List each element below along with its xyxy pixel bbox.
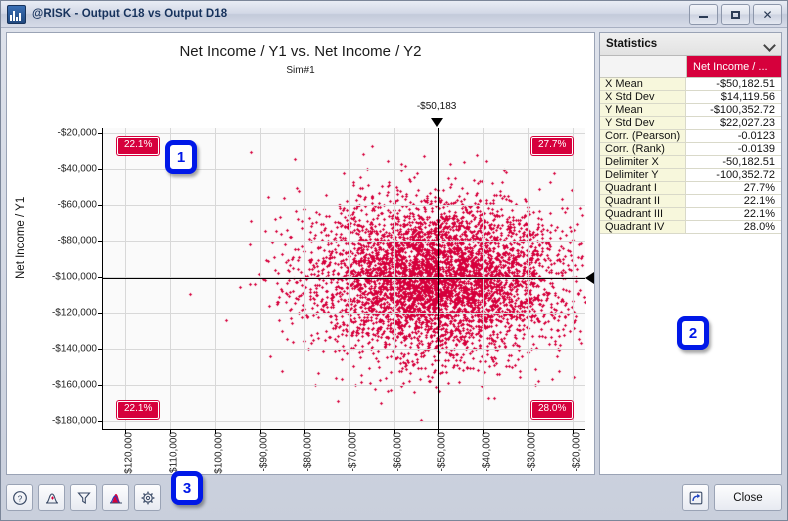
gridline-horizontal [103, 205, 585, 206]
statistics-row[interactable]: Corr. (Rank)-0.0139 [600, 143, 781, 156]
statistics-row-name: Delimiter X [600, 156, 686, 168]
y-axis-tick-label: -$180,000 [52, 416, 97, 427]
quadrant-badge-top-left: 22.1% [117, 137, 159, 155]
x-axis-tick [260, 429, 261, 434]
statistics-row-value: -$50,182.51 [686, 78, 781, 90]
x-axis-tick [483, 429, 484, 434]
y-axis-tick [98, 421, 103, 422]
risk-scatter-window: @RISK - Output C18 vs Output D18 ✕ Net I… [0, 0, 788, 521]
statistics-row-value: 22.1% [686, 195, 781, 207]
callout-badge-1: 1 [165, 140, 197, 174]
x-axis-tick [125, 429, 126, 434]
x-axis-tick-label: -$70,000 [347, 432, 358, 471]
delimiter-y-handle[interactable] [585, 272, 594, 284]
gridline-horizontal [103, 385, 585, 386]
help-button[interactable]: ? [6, 484, 33, 511]
statistics-row-value: $22,027.23 [686, 117, 781, 129]
statistics-row-value: -100,352.72 [686, 169, 781, 181]
y-axis-tick [98, 349, 103, 350]
statistics-row-name: X Mean [600, 78, 686, 90]
delimiter-y-line[interactable] [103, 278, 585, 279]
x-axis-tick-label: -$80,000 [303, 432, 314, 471]
window-title: @RISK - Output C18 vs Output D18 [32, 8, 227, 20]
statistics-value-col-header: Net Income / ... [687, 56, 781, 77]
statistics-row-value: -0.0123 [686, 130, 781, 142]
x-axis-tick-label: -$30,000 [526, 432, 537, 471]
statistics-row-value: -50,182.51 [686, 156, 781, 168]
y-axis-tick-labels: -$20,000-$40,000-$60,000-$80,000-$100,00… [7, 128, 97, 430]
export-button[interactable] [682, 484, 709, 511]
statistics-row-name: Quadrant III [600, 208, 686, 220]
statistics-name-col-header [600, 56, 687, 77]
distribution-grid-icon [44, 490, 60, 506]
statistics-title: Statistics [606, 38, 657, 50]
statistics-row[interactable]: X Mean-$50,182.51 [600, 78, 781, 91]
x-axis-tick [394, 429, 395, 434]
statistics-row[interactable]: Delimiter X-50,182.51 [600, 156, 781, 169]
statistics-header[interactable]: Statistics [600, 33, 781, 56]
statistics-row[interactable]: Delimiter Y-100,352.72 [600, 169, 781, 182]
minimize-icon [699, 16, 708, 18]
x-axis-tick [304, 429, 305, 434]
statistics-row[interactable]: Quadrant I27.7% [600, 182, 781, 195]
filter-button[interactable] [70, 484, 97, 511]
y-axis-tick-label: -$120,000 [52, 308, 97, 319]
gridline-horizontal [103, 313, 585, 314]
y-axis-tick-label: -$80,000 [58, 236, 97, 247]
statistics-row-name: Quadrant IV [600, 221, 686, 233]
delimiter-x-label: -$50,183 [417, 101, 456, 112]
x-axis-tick-label: -$100,000 [213, 432, 224, 475]
y-axis-tick [98, 169, 103, 170]
chart-subtitle: Sim#1 [7, 65, 594, 76]
statistics-row-name: Delimiter Y [600, 169, 686, 181]
statistics-row[interactable]: Y Std Dev$22,027.23 [600, 117, 781, 130]
main-content: Net Income / Y1 vs. Net Income / Y2 Sim#… [6, 32, 782, 475]
statistics-row[interactable]: Quadrant III22.1% [600, 208, 781, 221]
gridline-horizontal [103, 241, 585, 242]
overlay-distribution-button[interactable] [102, 484, 129, 511]
bar-chart-icon [7, 5, 26, 24]
x-axis-tick-label: -$60,000 [392, 432, 403, 471]
gridline-horizontal [103, 421, 585, 422]
gear-icon [140, 490, 156, 506]
statistics-row-value: 27.7% [686, 182, 781, 194]
chart-title: Net Income / Y1 vs. Net Income / Y2 [7, 43, 594, 60]
statistics-column-header: Net Income / ... [600, 56, 781, 78]
statistics-row-name: Quadrant I [600, 182, 686, 194]
statistics-row-name: X Std Dev [600, 91, 686, 103]
x-axis-tick-label: -$120,000 [124, 432, 135, 475]
quadrant-badge-bottom-left: 22.1% [117, 401, 159, 419]
close-button[interactable]: Close [714, 484, 782, 511]
statistics-row[interactable]: X Std Dev$14,119.56 [600, 91, 781, 104]
statistics-rows: X Mean-$50,182.51X Std Dev$14,119.56Y Me… [600, 78, 781, 234]
maximize-button[interactable] [721, 4, 750, 25]
gridline-horizontal [103, 133, 585, 134]
statistics-panel: Statistics Net Income / ... X Mean-$50,1… [599, 32, 782, 475]
scatter-chart-panel[interactable]: Net Income / Y1 vs. Net Income / Y2 Sim#… [6, 32, 595, 475]
statistics-empty-area [600, 234, 781, 474]
x-axis-tick [215, 429, 216, 434]
close-icon: ✕ [762, 9, 772, 21]
x-axis-tick [438, 429, 439, 434]
title-bar: @RISK - Output C18 vs Output D18 ✕ [1, 1, 787, 28]
svg-text:?: ? [17, 493, 22, 503]
y-axis-tick-label: -$140,000 [52, 344, 97, 355]
x-axis-tick-label: -$90,000 [258, 432, 269, 471]
funnel-icon [76, 490, 92, 506]
x-axis-tick-label: -$20,000 [571, 432, 582, 471]
red-distribution-icon [108, 490, 124, 506]
delimiter-x-handle[interactable] [431, 118, 443, 127]
statistics-row-name: Y Std Dev [600, 117, 686, 129]
y-axis-tick-label: -$60,000 [58, 200, 97, 211]
statistics-row-value: 22.1% [686, 208, 781, 220]
statistics-row-value: -0.0139 [686, 143, 781, 155]
window-controls: ✕ [689, 4, 782, 25]
maximize-icon [731, 11, 740, 19]
callout-badge-2: 2 [677, 316, 709, 350]
x-axis-tick [573, 429, 574, 434]
statistics-row-name: Y Mean [600, 104, 686, 116]
x-axis-tick [528, 429, 529, 434]
minimize-button[interactable] [689, 4, 718, 25]
statistics-row[interactable]: Corr. (Pearson)-0.0123 [600, 130, 781, 143]
statistics-row-name: Corr. (Pearson) [600, 130, 686, 142]
statistics-row[interactable]: Y Mean-$100,352.72 [600, 104, 781, 117]
close-window-button[interactable]: ✕ [753, 4, 782, 25]
x-axis-tick-labels: -$120,000-$110,000-$100,000-$90,000-$80,… [102, 432, 585, 475]
y-axis-tick [98, 133, 103, 134]
x-axis-tick [170, 429, 171, 434]
statistics-row-name: Corr. (Rank) [600, 143, 686, 155]
settings-button[interactable] [134, 484, 161, 511]
y-axis-tick-label: -$100,000 [52, 272, 97, 283]
y-axis-tick [98, 241, 103, 242]
quadrant-badge-bottom-right: 28.0% [531, 401, 573, 419]
distribution-grid-button[interactable] [38, 484, 65, 511]
question-mark-icon: ? [12, 490, 28, 506]
x-axis-tick [349, 429, 350, 434]
export-arrow-icon [688, 490, 704, 506]
y-axis-tick [98, 313, 103, 314]
x-axis-tick-label: -$50,000 [437, 432, 448, 471]
x-axis-tick-label: -$40,000 [482, 432, 493, 471]
x-axis-tick-label: -$110,000 [169, 432, 180, 475]
quadrant-badge-top-right: 27.7% [531, 137, 573, 155]
statistics-row[interactable]: Quadrant II22.1% [600, 195, 781, 208]
statistics-row-value: -$100,352.72 [686, 104, 781, 116]
statistics-row-name: Quadrant II [600, 195, 686, 207]
y-axis-tick-label: -$20,000 [58, 128, 97, 139]
y-axis-tick [98, 205, 103, 206]
statistics-row[interactable]: Quadrant IV28.0% [600, 221, 781, 234]
y-axis-tick-label: -$40,000 [58, 164, 97, 175]
statistics-row-value: $14,119.56 [686, 91, 781, 103]
bottom-toolbar: ? [6, 479, 782, 516]
chevron-down-icon[interactable] [764, 39, 775, 50]
statistics-row-value: 28.0% [686, 221, 781, 233]
callout-badge-3: 3 [171, 471, 203, 505]
y-axis-tick-label: -$160,000 [52, 380, 97, 391]
gridline-horizontal [103, 349, 585, 350]
bottom-right-buttons: Close [682, 484, 782, 511]
y-axis-tick [98, 385, 103, 386]
